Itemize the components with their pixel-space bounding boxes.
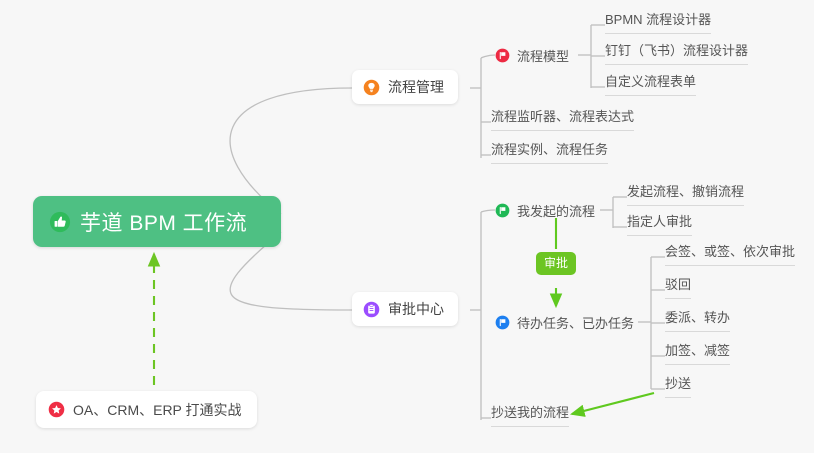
root-node[interactable]: 芋道 BPM 工作流 <box>33 196 281 247</box>
leaf-item-dingtalk-feishu-designer[interactable]: 钉钉（飞书）流程设计器 <box>605 43 748 65</box>
leaf-item-countersign-orsign-sequential[interactable]: 会签、或签、依次审批 <box>665 244 795 266</box>
leaf-item-delegate-transfer[interactable]: 委派、转办 <box>665 310 730 332</box>
branch-node-label: 审批中心 <box>388 299 444 319</box>
leaf-item-reject[interactable]: 驳回 <box>665 277 691 299</box>
leaf-item-process-listener-expression[interactable]: 流程监听器、流程表达式 <box>491 109 634 131</box>
leaf-item-process-instance-task[interactable]: 流程实例、流程任务 <box>491 142 608 164</box>
topic-item-label: 待办任务、已办任务 <box>517 313 634 332</box>
approve-tag[interactable]: 审批 <box>536 252 576 275</box>
leaf-item-bpmn-designer[interactable]: BPMN 流程设计器 <box>605 12 711 34</box>
integration-callout-label: OA、CRM、ERP 打通实战 <box>73 400 242 420</box>
branch-node-process-management[interactable]: 流程管理 <box>352 70 458 104</box>
topic-item-process-model[interactable]: 流程模型 <box>495 45 569 65</box>
leaf-item-cc-to-me-processes[interactable]: 抄送我的流程 <box>491 405 569 427</box>
clipboard-icon <box>363 301 380 318</box>
leaf-item-custom-process-form[interactable]: 自定义流程表单 <box>605 74 696 96</box>
lightbulb-icon <box>363 79 380 96</box>
topic-item-todo-done-tasks[interactable]: 待办任务、已办任务 <box>495 312 634 332</box>
topic-item-my-started-processes[interactable]: 我发起的流程 <box>495 200 595 220</box>
thumbs-up-icon <box>49 211 71 233</box>
root-node-label: 芋道 BPM 工作流 <box>80 207 247 237</box>
star-icon <box>48 401 65 418</box>
topic-item-label: 流程模型 <box>517 46 569 65</box>
branch-node-label: 流程管理 <box>388 77 444 97</box>
integration-callout-node[interactable]: OA、CRM、ERP 打通实战 <box>36 391 257 428</box>
leaf-item-cc[interactable]: 抄送 <box>665 376 691 398</box>
branch-node-approval-center[interactable]: 审批中心 <box>352 292 458 326</box>
flag-icon <box>495 48 510 63</box>
mindmap-canvas: 芋道 BPM 工作流 流程管理 审批中心 流程模型 <box>0 0 814 453</box>
flag-icon <box>495 315 510 330</box>
leaf-item-start-cancel-process[interactable]: 发起流程、撤销流程 <box>627 184 744 206</box>
leaf-item-assignee-approval[interactable]: 指定人审批 <box>627 214 692 236</box>
leaf-item-add-remove-signer[interactable]: 加签、减签 <box>665 343 730 365</box>
topic-item-label: 我发起的流程 <box>517 201 595 220</box>
cc-flow-arrow <box>572 393 654 414</box>
flag-icon <box>495 203 510 218</box>
